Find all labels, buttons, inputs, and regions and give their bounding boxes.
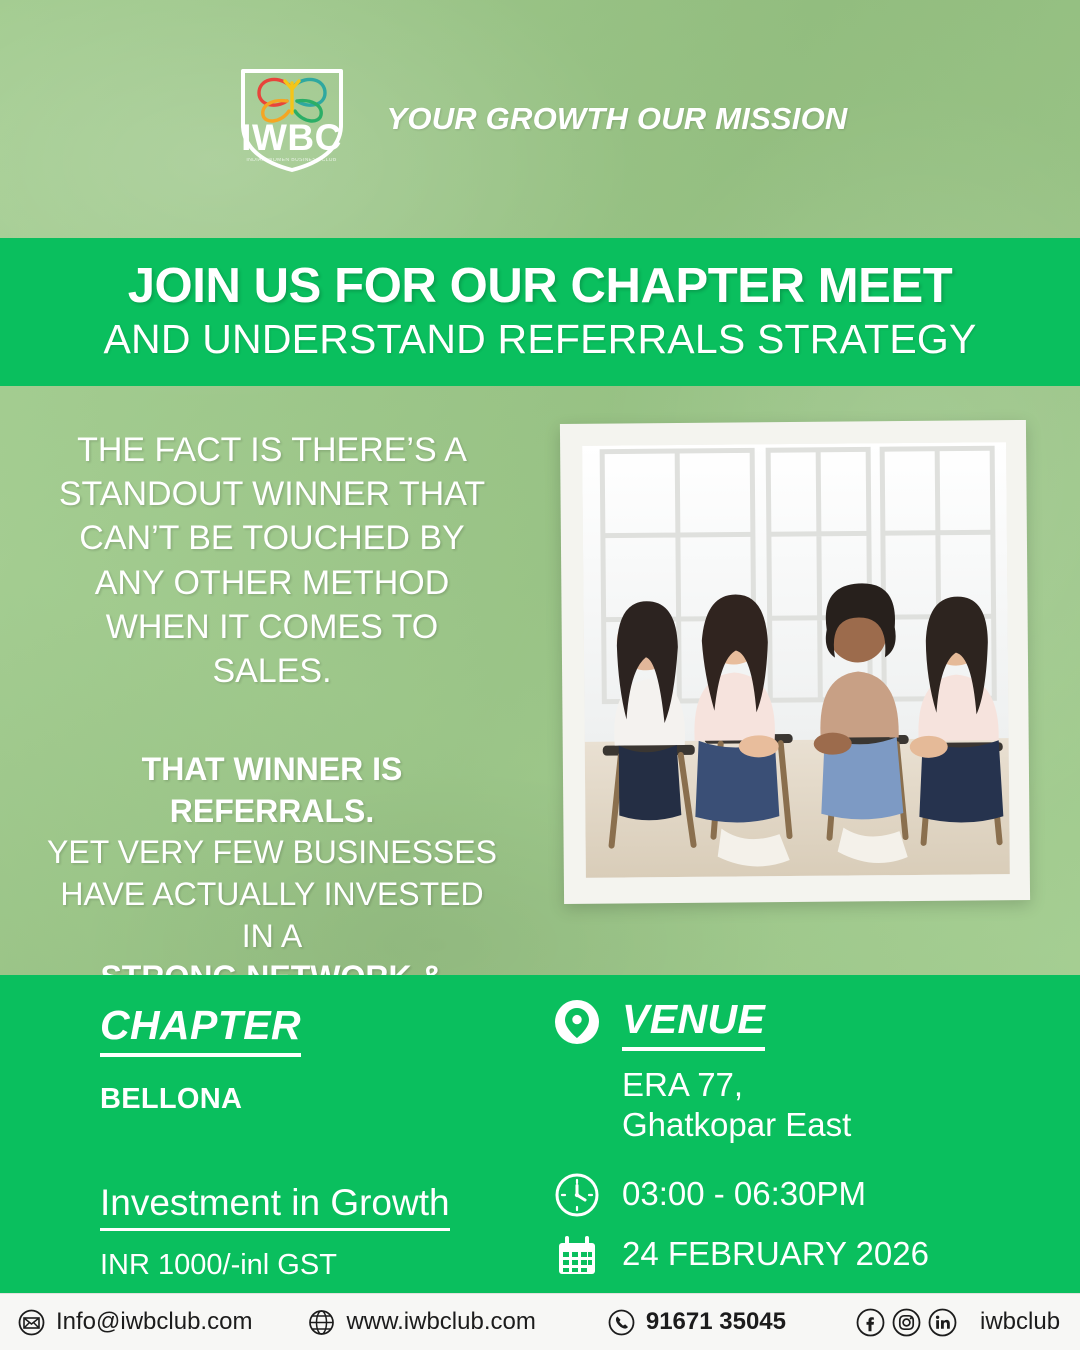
copy-column: THE FACT IS THERE’S A STANDOUT WINNER TH…	[0, 386, 540, 975]
phone-icon	[608, 1309, 635, 1336]
venue-details: VENUE ERA 77, Ghatkopar East 03:00 - 06:…	[540, 975, 1080, 1293]
paragraph-two-line-2: YET VERY FEW BUSINESSES	[47, 834, 497, 870]
facebook-icon[interactable]	[856, 1308, 885, 1337]
social-contact[interactable]: iwbclub	[856, 1308, 1060, 1337]
social-handle-text: iwbclub	[980, 1308, 1060, 1336]
meeting-photo	[582, 442, 1010, 878]
investment-heading: Investment in Growth	[100, 1182, 450, 1231]
contact-footer: Info@iwbclub.com www.iwbclub.com 91671 3…	[0, 1293, 1080, 1350]
chapter-name: BELLONA	[100, 1083, 540, 1116]
event-details-band: CHAPTER BELLONA Investment in Growth INR…	[0, 975, 1080, 1293]
venue-row: VENUE	[554, 999, 1080, 1051]
email-icon	[18, 1309, 45, 1336]
event-date: 24 FEBRUARY 2026	[622, 1232, 929, 1273]
photo-column	[540, 386, 1080, 975]
calendar-icon	[554, 1232, 600, 1278]
globe-icon	[308, 1309, 335, 1336]
phone-text: 91671 35045	[646, 1308, 786, 1336]
meeting-photo-illustration	[582, 442, 1010, 878]
paragraph-two-line-1: THAT WINNER IS REFERRALS.	[142, 751, 403, 829]
phone-contact[interactable]: 91671 35045	[608, 1308, 786, 1336]
paragraph-two-line-3: HAVE ACTUALLY INVESTED IN A	[60, 876, 483, 954]
chapter-heading: CHAPTER	[100, 1005, 301, 1057]
clock-icon	[554, 1172, 600, 1218]
venue-heading: VENUE	[622, 999, 765, 1051]
venue-address-line-2: Ghatkopar East	[622, 1106, 851, 1143]
linkedin-icon[interactable]	[928, 1308, 957, 1337]
title-main: JOIN US FOR OUR CHAPTER MEET	[128, 262, 953, 312]
email-contact[interactable]: Info@iwbclub.com	[18, 1308, 252, 1336]
paragraph-one: THE FACT IS THERE’S A STANDOUT WINNER TH…	[42, 428, 502, 693]
brand-tagline: YOUR GROWTH OUR MISSION	[387, 101, 848, 137]
event-time: 03:00 - 06:30PM	[622, 1172, 866, 1213]
investment-amount: INR 1000/-inl GST	[100, 1249, 540, 1282]
instagram-icon[interactable]	[892, 1308, 921, 1337]
title-band: JOIN US FOR OUR CHAPTER MEET AND UNDERST…	[0, 238, 1080, 386]
title-sub: AND UNDERSTAND REFERRALS STRATEGY	[103, 317, 976, 363]
venue-address-line-1: ERA 77,	[622, 1066, 743, 1103]
main-content: THE FACT IS THERE’S A STANDOUT WINNER TH…	[0, 386, 1080, 975]
website-text: www.iwbclub.com	[346, 1308, 535, 1336]
venue-heading-wrap: VENUE	[622, 999, 765, 1051]
iwbc-logo: IWBC INDIAN WOMEN BUSINESS CLUB	[233, 63, 351, 175]
venue-address: ERA 77, Ghatkopar East	[622, 1065, 1080, 1146]
social-icon-group	[856, 1308, 957, 1337]
photo-frame	[560, 420, 1030, 904]
website-contact[interactable]: www.iwbclub.com	[308, 1308, 535, 1336]
date-row: 24 FEBRUARY 2026	[554, 1232, 1080, 1278]
logo-subtext: INDIAN WOMEN BUSINESS CLUB	[233, 158, 351, 163]
location-pin-icon	[554, 999, 600, 1045]
chapter-details: CHAPTER BELLONA Investment in Growth INR…	[0, 975, 540, 1293]
email-text: Info@iwbclub.com	[56, 1308, 252, 1336]
time-row: 03:00 - 06:30PM	[554, 1172, 1080, 1218]
logo-wordmark: IWBC	[233, 119, 351, 156]
poster-header: IWBC INDIAN WOMEN BUSINESS CLUB YOUR GRO…	[0, 0, 1080, 238]
